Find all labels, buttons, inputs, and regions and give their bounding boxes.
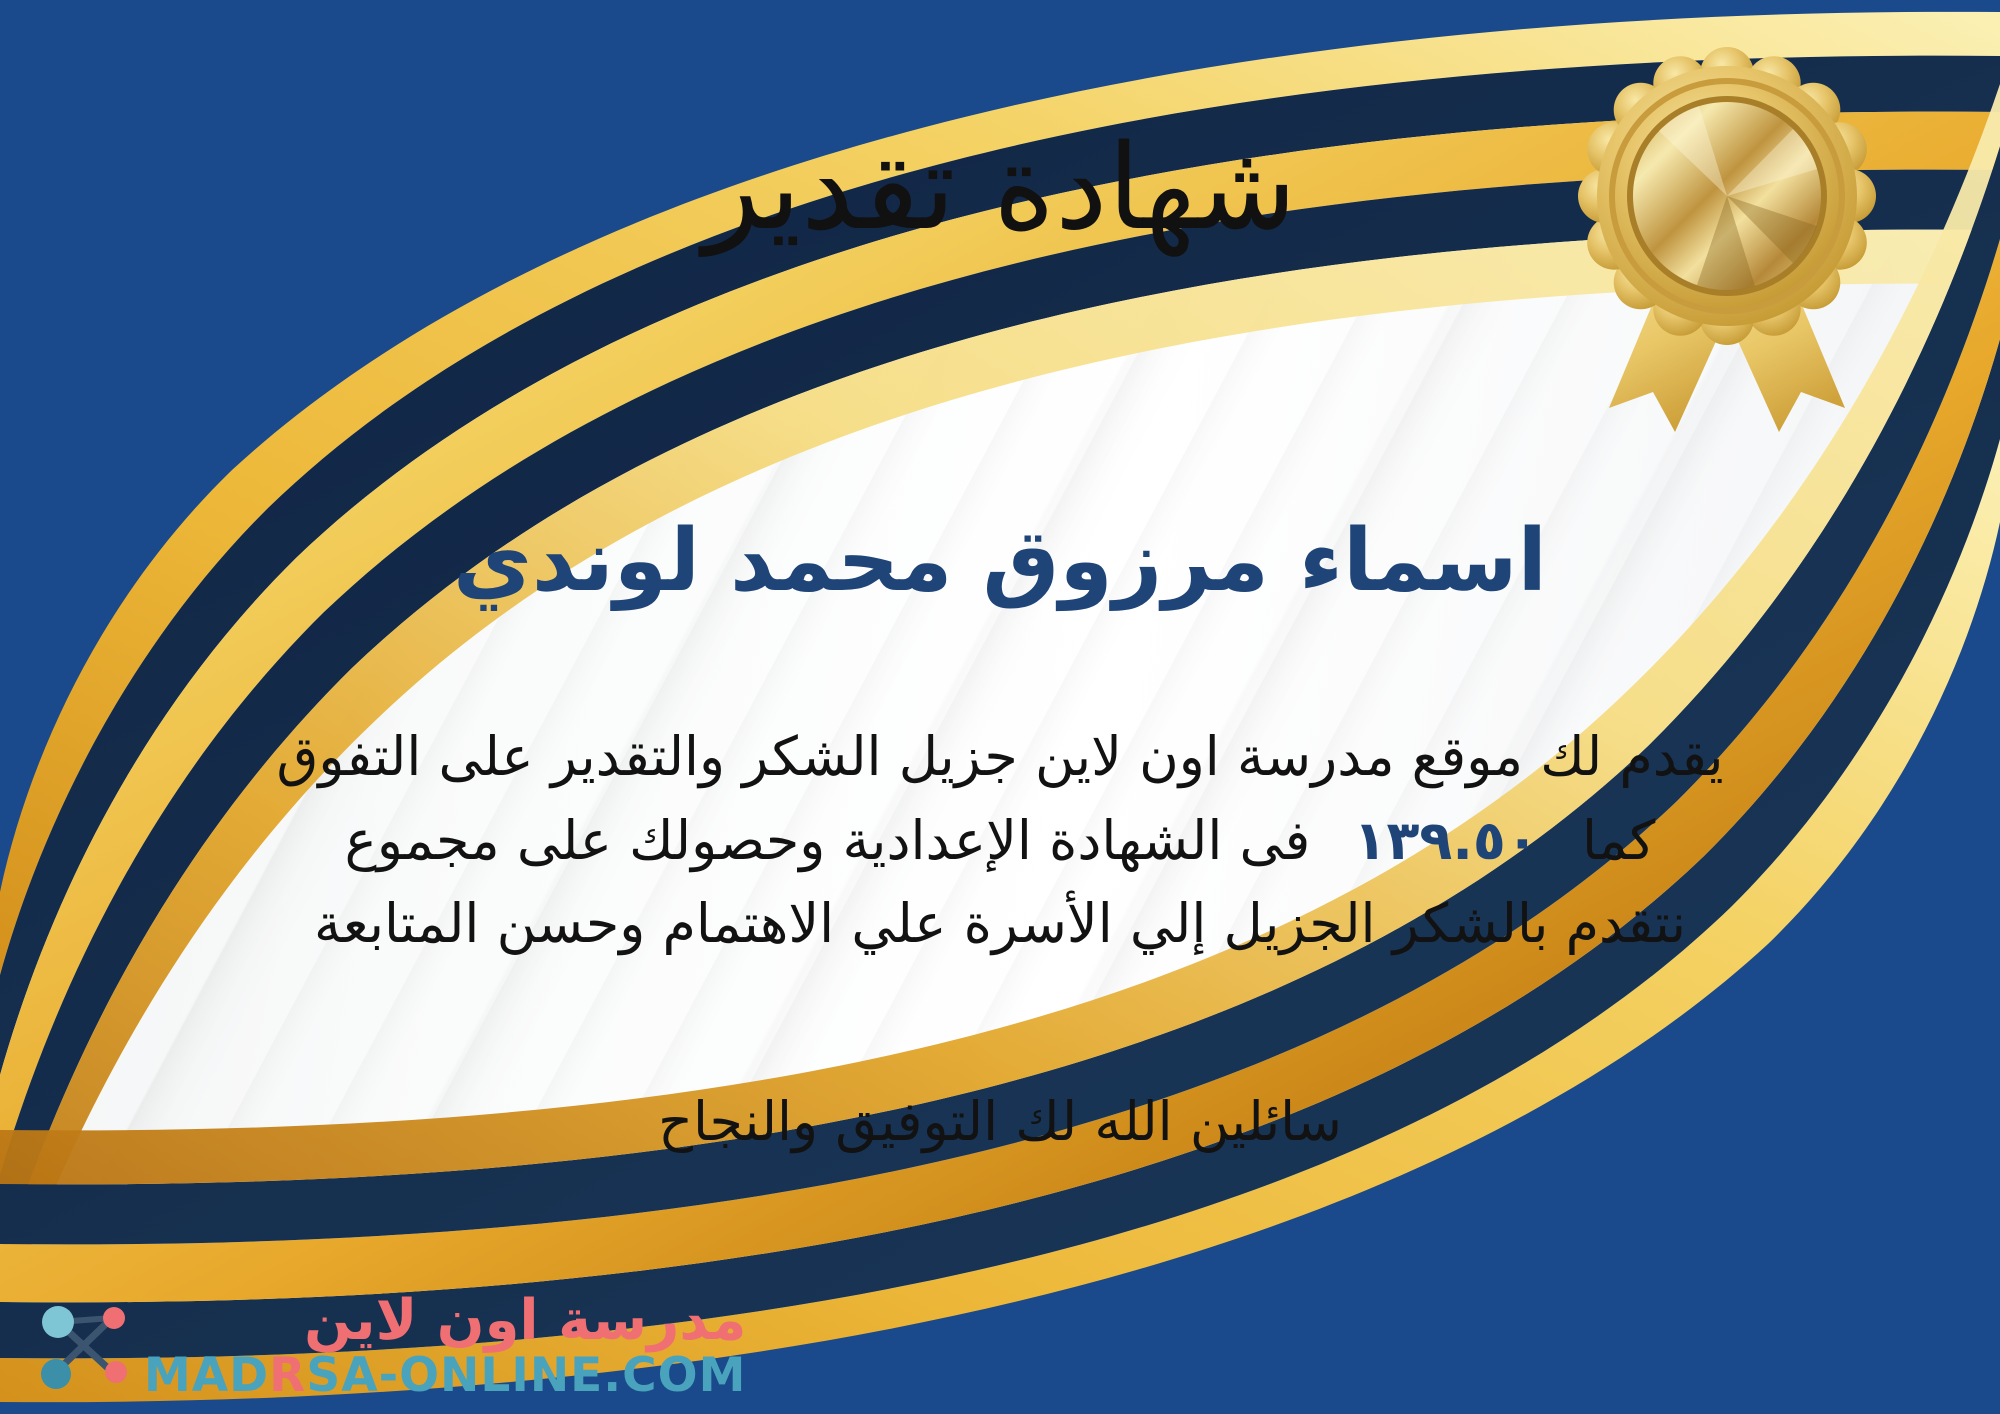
brand-logo[interactable]: مدرسة اون لاين MADRSA-ONLINE.COM xyxy=(28,1292,746,1400)
brand-arabic-name: مدرسة اون لاين xyxy=(304,1292,746,1351)
certificate-title: شهادة تقدير xyxy=(0,120,2000,256)
body-line-2: كما ١٣٩.٥٠ فى الشهادة الإعدادية وحصولك ع… xyxy=(55,799,1945,883)
body-line-2-leading: فى الشهادة الإعدادية وحصولك على مجموع xyxy=(345,809,1311,872)
body-line-3: نتقدم بالشكر الجزيل إلي الأسرة علي الاهت… xyxy=(55,882,1945,966)
score-total-value: ١٣٩.٥٠ xyxy=(1328,809,1565,872)
body-line-1: يقدم لك موقع مدرسة اون لاين جزيل الشكر و… xyxy=(55,715,1945,799)
recipient-name: اسماء مرزوق محمد لوندي xyxy=(0,510,2000,613)
brand-domain-highlight: R xyxy=(269,1348,306,1403)
certificate-body: يقدم لك موقع مدرسة اون لاين جزيل الشكر و… xyxy=(55,715,1945,966)
brand-text-block: مدرسة اون لاين MADRSA-ONLINE.COM xyxy=(144,1292,746,1400)
network-nodes-icon xyxy=(28,1292,136,1400)
brand-domain-prefix: MAD xyxy=(144,1348,269,1403)
brand-domain-suffix: SA-ONLINE.COM xyxy=(306,1348,746,1403)
closing-line: سائلين الله لك التوفيق والنجاح xyxy=(0,1090,2000,1153)
certificate-canvas: شهادة تقدير اسماء مرزوق محمد لوندي يقدم … xyxy=(0,0,2000,1414)
certificate-content: شهادة تقدير اسماء مرزوق محمد لوندي يقدم … xyxy=(0,0,2000,1414)
brand-domain[interactable]: MADRSA-ONLINE.COM xyxy=(144,1351,746,1400)
body-line-2-trailing: كما xyxy=(1582,809,1655,872)
